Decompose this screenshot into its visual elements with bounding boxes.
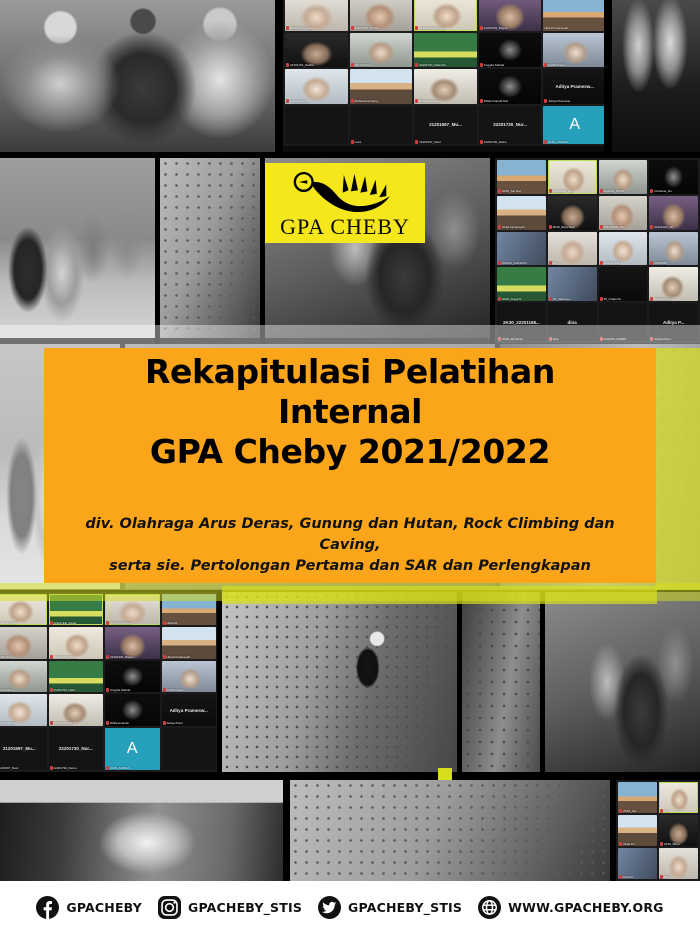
globe-icon[interactable]: [478, 896, 501, 919]
zoom-tile: 21201755_Ni Ma: [350, 0, 413, 31]
photo-team-indoor-group: [545, 592, 700, 772]
photo-equipment-room: [0, 780, 283, 881]
zoom-tile: KAZKU: [618, 848, 657, 879]
zoom-tile: 21201597_Mu...21201597_Nauf: [414, 106, 477, 144]
photo-climber-on-wall: [222, 592, 457, 772]
zoom-tile: [162, 728, 217, 770]
twitter-icon[interactable]: [318, 896, 341, 919]
zoom-tile: Fajar Nugroho: [285, 69, 348, 104]
zoom-tile: 32HAYEE_Rinali: [49, 594, 104, 625]
zoom-tile: [285, 106, 348, 144]
zoom-tile: Pratiyo Aji Nara: [414, 69, 477, 104]
subtitle-line-1: div. Olahraga Arus Deras, Gunung dan Hut…: [78, 514, 623, 556]
zoom-tile: Aditya Pramesw...Aditya Pramesw: [543, 69, 606, 104]
poster-root: 21201741_Anisa 21201755_Ni Ma 21201645_N…: [0, 0, 700, 933]
zoom-tile: 21201791_Nabila: [285, 33, 348, 68]
collage-gutter: [217, 592, 222, 772]
zoom-tile: 2K30_Bayu Rap: [548, 196, 597, 230]
collage-gutter: [283, 780, 290, 881]
zoom-tile: Chebiota_De: [649, 160, 698, 194]
instagram-label[interactable]: GPACHEBY_STIS: [188, 900, 302, 915]
zoom-tile: Ubad Firmansyah: [162, 627, 217, 658]
zoom-tile: Nafrizh Pangest: [105, 594, 160, 625]
zoom-tile: Dhilla Ananda Dwi: [479, 69, 542, 104]
zoom-tile: Ni Ma Amri: [0, 627, 47, 658]
facebook-icon[interactable]: [36, 896, 59, 919]
title-line-1: Rekapitulasi Pelatihan Internal: [70, 352, 630, 433]
zoom-tile: Fadhil Fajrie: [162, 661, 217, 692]
zoom-tile: 22141003_Aft: [649, 196, 698, 230]
collage-gutter: [610, 780, 616, 881]
zoom-tile: 1120153_NURDI: [599, 303, 648, 341]
photo-zoom-meeting-bottom-right: 2K30_Sar Inna Ubad Fir 2K30_Bayu KAZKU E…: [616, 780, 700, 881]
zoom-tile: 21201741_Anisa: [285, 0, 348, 31]
social-twitter[interactable]: GPACHEBY_STIS: [318, 896, 462, 919]
zoom-tile: Aditya Pramesw...Aditya Pram: [162, 694, 217, 725]
zoom-tile: 21201754_Nafa: [49, 661, 104, 692]
photo-climbing-wall-left: [160, 158, 260, 338]
zoom-tile: Anggita Sahida: [105, 661, 160, 692]
website-label[interactable]: WWW.GPACHEBY.ORG: [508, 900, 664, 915]
zoom-tile: 21201339_Bagus: [479, 0, 542, 31]
zoom-tile: 21201889_Inna: [548, 160, 597, 194]
zoom-tile: 223fona_MUNT: [599, 160, 648, 194]
zoom-tile: Ubad Firmansyah: [543, 0, 606, 31]
zoom-tile: 2K30_Bayu: [659, 815, 698, 846]
collage-gutter: [457, 592, 462, 772]
zoom-tile: 2K30_22201168...2K30_Muhamm: [497, 303, 546, 341]
subtitle-line-2: serta sie. Pertolongan Pertama dan SAR d…: [109, 556, 591, 577]
photo-participants-raising-hands: [0, 158, 155, 338]
collage-gutter: [540, 592, 545, 772]
bird-logo-icon: [286, 169, 404, 215]
zoom-tile: Lexa: [350, 106, 413, 144]
zoom-tile: 22201730_Nur...22201730_Retno: [479, 106, 542, 144]
zoom-tile: KAZKU_GUFRON: [497, 232, 546, 266]
zoom-tile: Dhilla Ananda: [105, 694, 160, 725]
zoom-tile: Fadhil Fajrie: [543, 33, 606, 68]
zoom-tile: Anggita Sahida: [479, 33, 542, 68]
title-card: Rekapitulasi Pelatihan Internal GPA Cheb…: [44, 348, 656, 583]
zoom-tile: 21201754_Nafa Dwi: [414, 33, 477, 68]
zoom-tile: 2K30_Sar: [618, 782, 657, 813]
zoom-tile: Fajar Nugroho: [0, 694, 47, 725]
zoom-tile: Ehi_: [659, 848, 698, 879]
zoom-tile: Dinda MUNTAJ: [0, 594, 47, 625]
zoom-tile: Inna: [659, 782, 698, 813]
zoom-tile: Pratiyo Aji Nara: [49, 694, 104, 725]
zoom-tile: Siti Nurdian: [0, 661, 47, 692]
title-line-2: GPA Cheby 2021/2022: [150, 432, 550, 472]
social-footer: GPACHEBY GPACHEBY_STIS GPACHEBY_STIS: [0, 881, 700, 933]
gpa-cheby-logo: GPA CHEBY: [265, 163, 425, 243]
photo-zoom-meeting-bottom-left: Dinda MUNTAJ 32HAYEE_Rinali Nafrizh Pang…: [0, 592, 218, 772]
zoom-tile: 21201645_Nurhana: [414, 0, 477, 31]
zoom-tile: 21201597_Mu...21201597_Nauf: [0, 728, 47, 770]
social-facebook[interactable]: GPACHEBY: [36, 896, 142, 919]
social-instagram[interactable]: GPACHEBY_STIS: [158, 896, 302, 919]
zoom-tile: 21201892_Fit: [649, 267, 698, 301]
zoom-tile: 22201887_: [649, 232, 698, 266]
collage-gutter: [275, 0, 283, 152]
photo-crowd-night: [612, 0, 700, 152]
social-website[interactable]: WWW.GPACHEBY.ORG: [478, 896, 664, 919]
zoom-tile: Ehi_: [548, 232, 597, 266]
zoom-tile: A3135_ANDIKA: [105, 728, 160, 770]
zoom-tile: 112103295_Ba: [599, 196, 648, 230]
photo-climbers-training: [290, 780, 610, 881]
zoom-tile: Ubad Fir: [618, 815, 657, 846]
logo-text: GPA CHEBY: [280, 216, 410, 238]
zoom-tile: Muhammad Deny: [350, 69, 413, 104]
zoom-tile: 21201645_Nurha: [49, 627, 104, 658]
zoom-tile: 21201339_Bagus: [105, 627, 160, 658]
zoom-tile: 35_Orajat Ali: [599, 267, 648, 301]
zoom-tile: Ubad Fimansyah: [497, 196, 546, 230]
photo-training-group-outdoor: [0, 0, 275, 152]
zoom-tile: 2K30_Sar Ret: [497, 160, 546, 194]
zoom-tile: Siti Nurdian: [350, 33, 413, 68]
zoom-tile: Ubad Ri: [162, 594, 217, 625]
collage-gutter: [490, 158, 495, 344]
zoom-tile: 22201730_Nur...22201730_Retno: [49, 728, 104, 770]
photo-bouldering-wall: [462, 592, 540, 772]
photo-zoom-meeting-right: 2K30_Sar Ret 21201889_Inna 223fona_MUNT …: [495, 158, 700, 343]
collage-gutter: [0, 152, 700, 158]
instagram-icon[interactable]: [158, 896, 181, 919]
collage-gutter: [604, 0, 612, 152]
zoom-tile: Mafrizdi Pang: [599, 232, 648, 266]
collage-gutter: [155, 158, 160, 344]
collage-gutter: [0, 772, 700, 780]
zoom-tile: 2X_Tiara Ayu: [548, 267, 597, 301]
twitter-label[interactable]: GPACHEBY_STIS: [348, 900, 462, 915]
zoom-tile: A3135_ANDIKA: [543, 106, 606, 144]
zoom-tile: dinadina: [548, 303, 597, 341]
zoom-tile: 2K30_Anggi N: [497, 267, 546, 301]
facebook-label[interactable]: GPACHEBY: [66, 900, 142, 915]
photo-zoom-meeting-top: 21201741_Anisa 21201755_Ni Ma 21201645_N…: [283, 0, 608, 146]
zoom-tile: Aditya P...Aditya Pram: [649, 303, 698, 341]
